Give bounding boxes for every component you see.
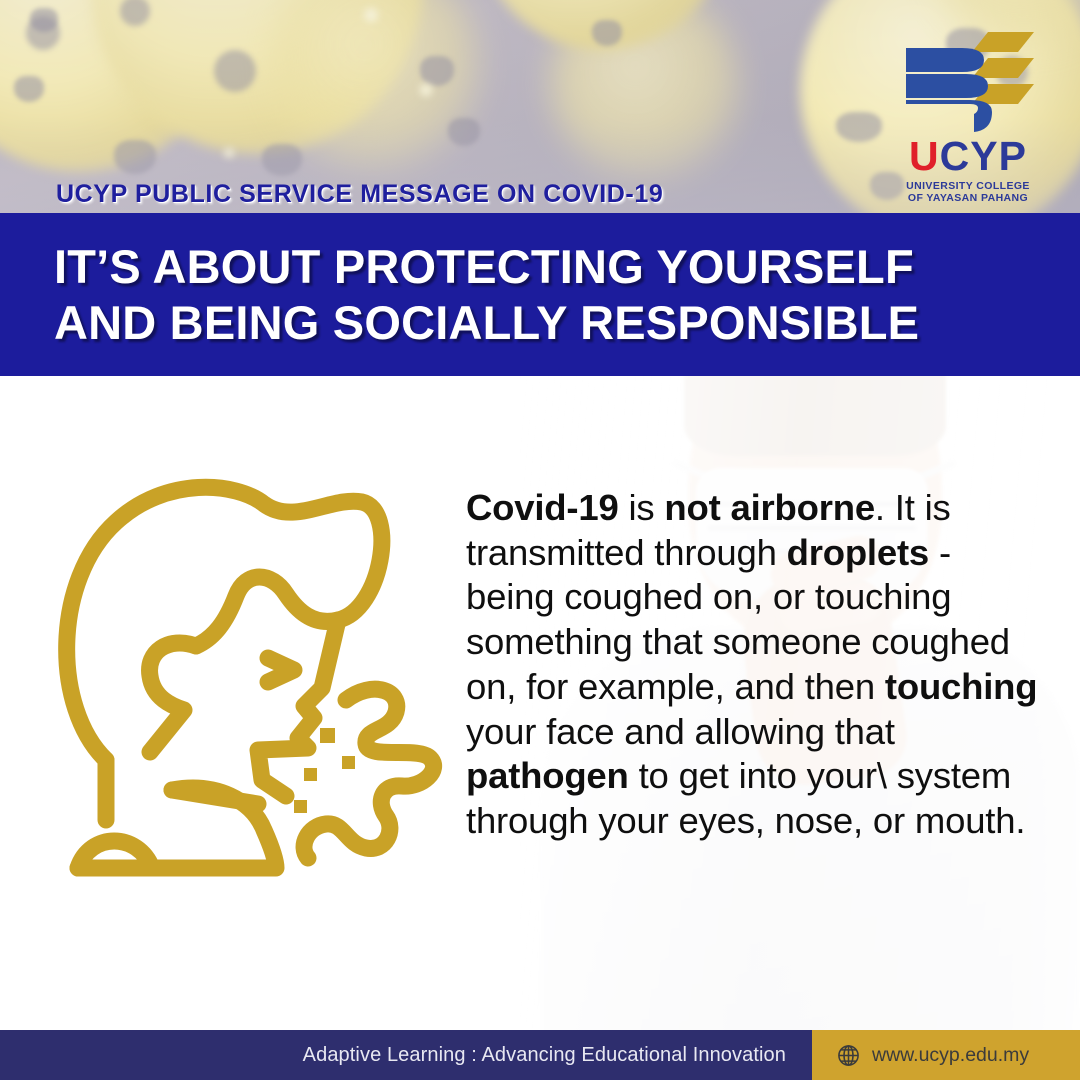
globe-icon xyxy=(836,1043,861,1068)
ucyp-wordmark-text: UCYP xyxy=(900,136,1036,177)
ucyp-wordmark: UCYP UNIVERSITY COLLEGE OF YAYASAN PAHAN… xyxy=(900,136,1036,205)
footer-website-url[interactable]: www.ucyp.edu.my xyxy=(872,1044,1029,1067)
body-emphasis: touching xyxy=(885,666,1037,707)
ucyp-logo-tagline: UNIVERSITY COLLEGE OF YAYASAN PAHANG xyxy=(900,180,1036,205)
main-content: Covid-19 is not airborne. It is transmit… xyxy=(0,376,1080,1030)
body-emphasis: droplets xyxy=(787,532,929,573)
ucyp-logo: UCYP UNIVERSITY COLLEGE OF YAYASAN PAHAN… xyxy=(900,26,1036,194)
poster-canvas: UCYP UNIVERSITY COLLEGE OF YAYASAN PAHAN… xyxy=(0,0,1080,1080)
eyebrow-label: UCYP PUBLIC SERVICE MESSAGE ON COVID-19 xyxy=(56,180,663,209)
footer-tagline-section: Adaptive Learning : Advancing Educationa… xyxy=(0,1030,812,1080)
body-emphasis: pathogen xyxy=(466,755,629,796)
ucyp-chevron-logo-icon xyxy=(900,26,1036,138)
page-title: IT’S ABOUT PROTECTING YOURSELF AND BEING… xyxy=(54,239,1054,351)
body-paragraph: Covid-19 is not airborne. It is transmit… xyxy=(466,486,1046,844)
body-paragraph-rich: Covid-19 is not airborne. It is transmit… xyxy=(466,487,1037,841)
headline-band: IT’S ABOUT PROTECTING YOURSELF AND BEING… xyxy=(0,213,1080,376)
body-text: your face and allowing that xyxy=(466,711,895,752)
footer-tagline: Adaptive Learning : Advancing Educationa… xyxy=(303,1044,812,1067)
person-coughing-droplets-icon xyxy=(46,460,456,890)
body-emphasis: not airborne xyxy=(664,487,875,528)
footer-bar: Adaptive Learning : Advancing Educationa… xyxy=(0,1030,1080,1080)
body-emphasis: Covid-19 xyxy=(466,487,619,528)
footer-website-section[interactable]: www.ucyp.edu.my xyxy=(812,1030,1080,1080)
ucyp-initial-letter: U xyxy=(909,133,940,179)
body-text: is xyxy=(619,487,665,528)
ucyp-remaining-letters: CYP xyxy=(940,133,1027,179)
